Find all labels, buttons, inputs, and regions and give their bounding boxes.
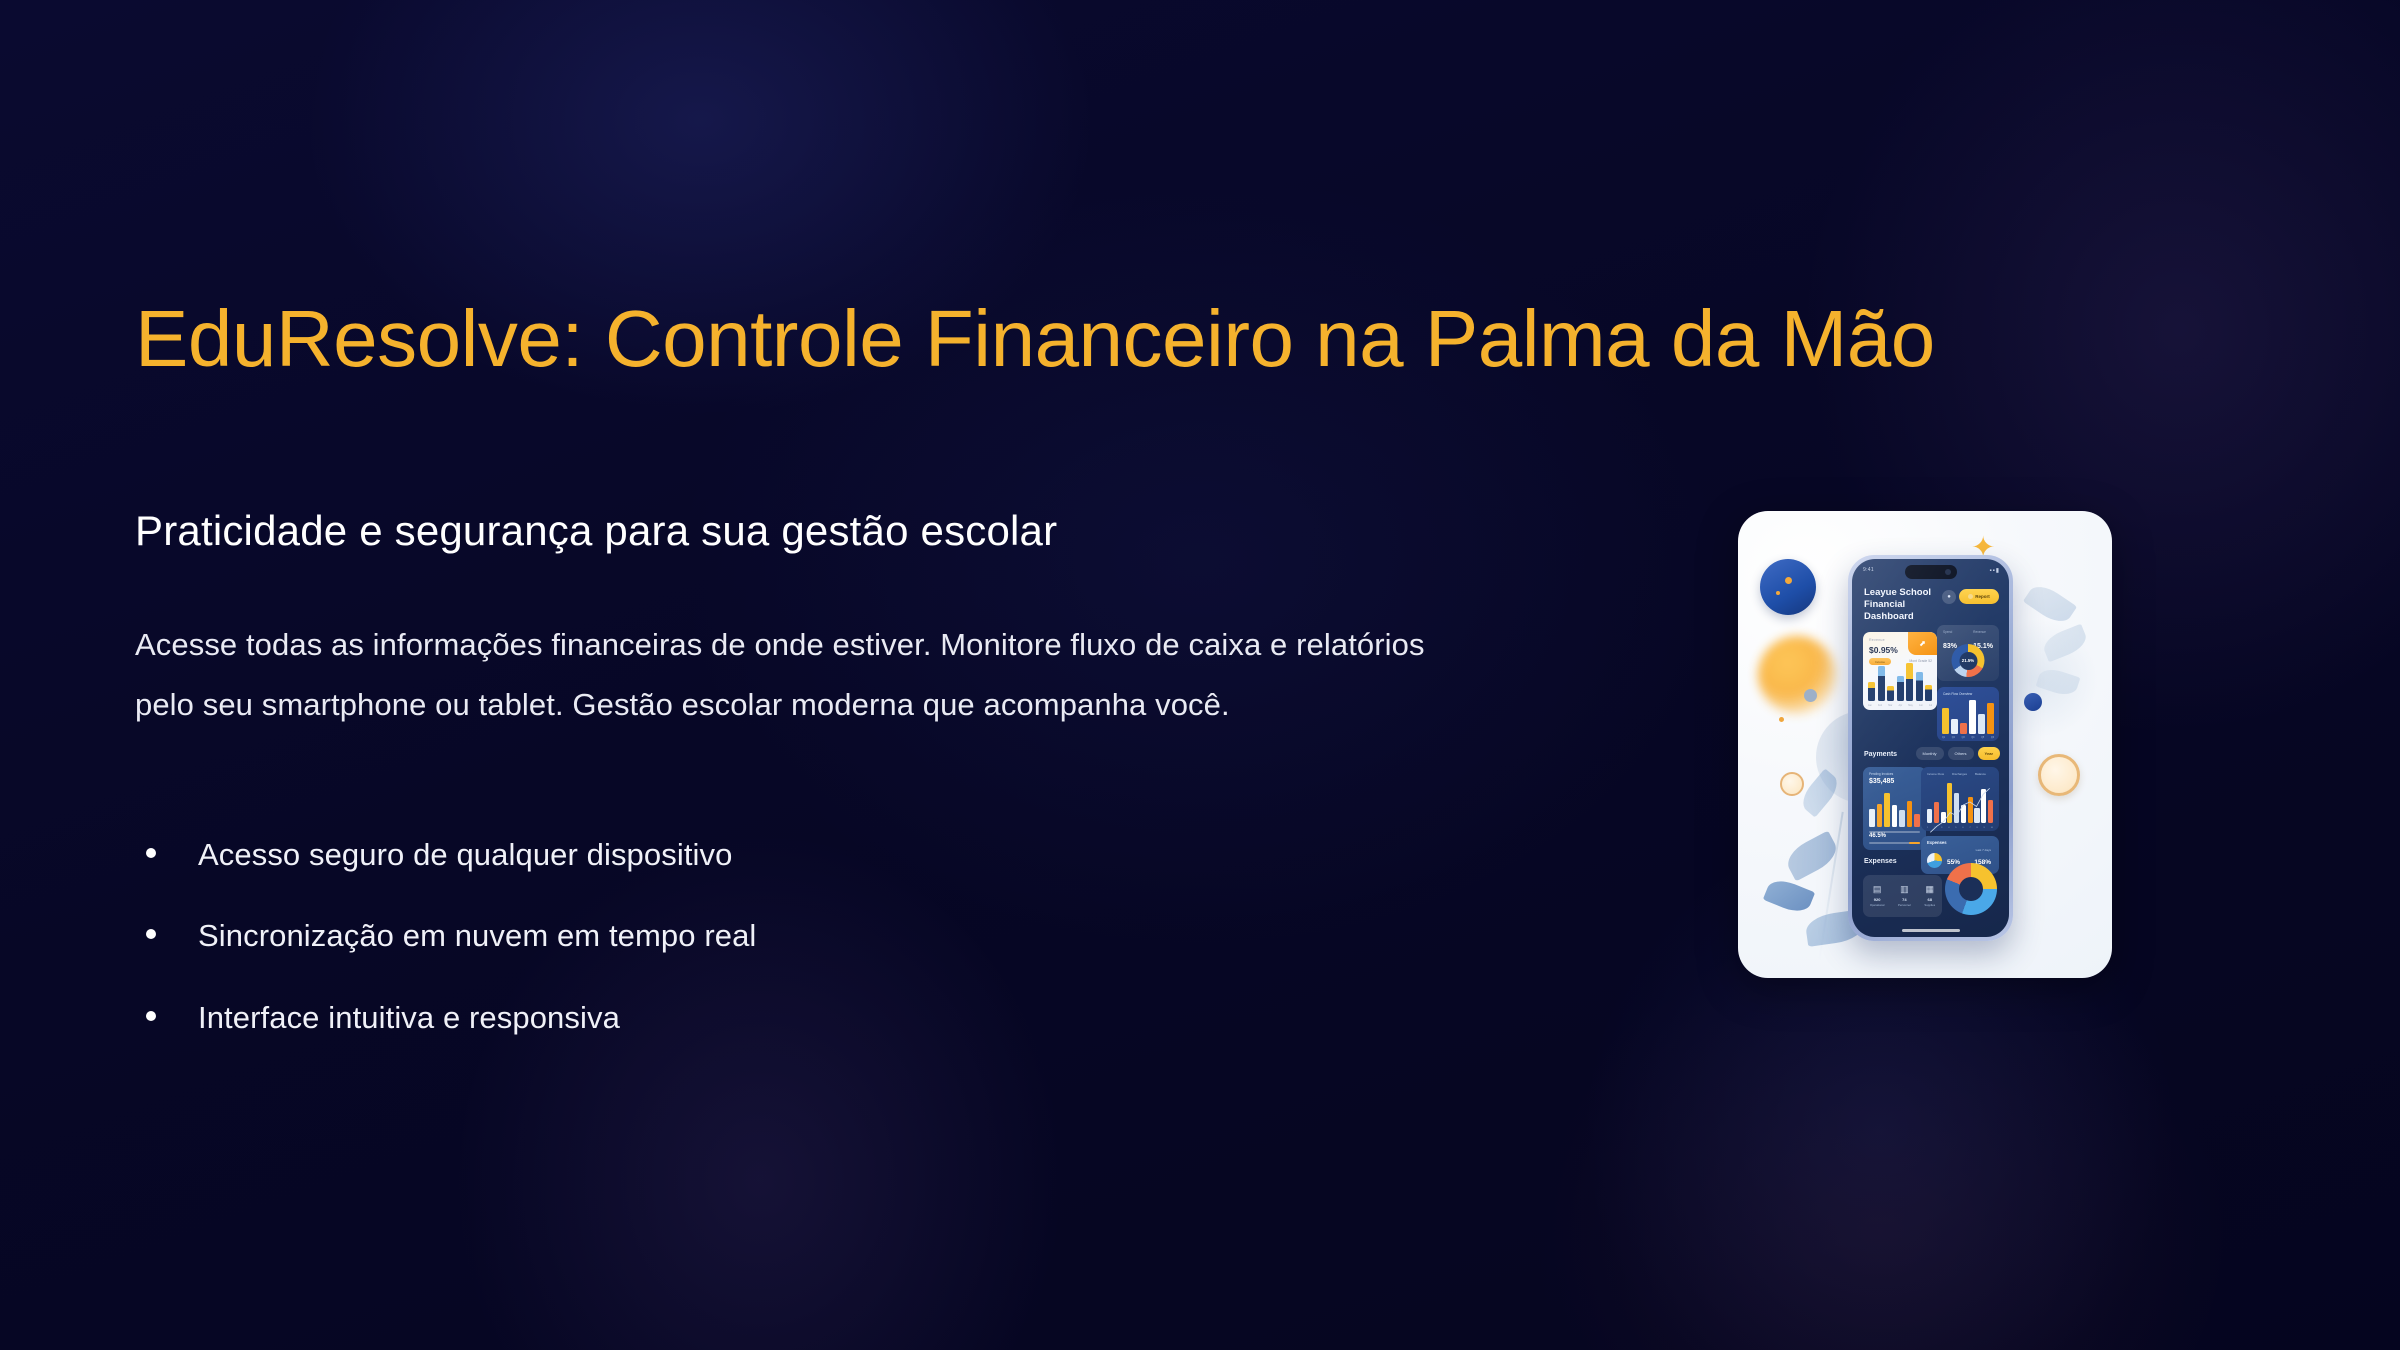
grey-dot-decor: [1804, 689, 1817, 702]
progress-value: 46.5%: [1869, 833, 1886, 839]
expense-tile[interactable]: ▤ 920 Operational: [1870, 885, 1884, 907]
axis-tick: Mar: [1888, 704, 1892, 707]
bar: [1925, 685, 1932, 701]
bar: [1869, 809, 1875, 827]
axis-tick: Q5: [1981, 737, 1984, 739]
bar: [1942, 708, 1949, 734]
axis-tick: 10: [1991, 827, 1993, 829]
chip-monthly[interactable]: Monthly: [1916, 747, 1944, 760]
axis-tick: Q1: [1942, 737, 1945, 739]
chip-others[interactable]: Others: [1948, 747, 1974, 760]
expense-tile[interactable]: ▥ 74 Personnel: [1898, 885, 1911, 907]
orange-blob-decor: [1758, 636, 1836, 714]
axis-tick: Jun: [1919, 704, 1923, 707]
trend-up-icon: ⬈: [1908, 632, 1937, 655]
page-title: EduResolve: Controle Financeiro na Palma…: [135, 295, 2255, 383]
bar: [1960, 723, 1967, 734]
bar: [1907, 801, 1913, 827]
expenses-mini-pie: [1927, 853, 1942, 868]
bullet-dot-icon: [146, 1011, 156, 1021]
cream-ring-small-decor: [1780, 772, 1804, 796]
blue-circle-decor: [1760, 559, 1816, 615]
bar: [1914, 814, 1920, 827]
donut-card[interactable]: Spend 83% Revenue 15.1% 21.5%: [1937, 625, 1999, 681]
illustration-card: ✦ ✦ 9:41 ▪▪▮ Leayue SchoolFinancialDashb…: [1738, 511, 2112, 978]
chip-year[interactable]: Year: [1978, 747, 2000, 760]
bar: [1897, 676, 1904, 701]
combo-chart-card[interactable]: Income Flow Discharges Balance 123456789…: [1921, 767, 1999, 831]
legend-item: Discharges: [1952, 772, 1967, 776]
axis-tick: Feb: [1878, 704, 1882, 707]
combo-axis-labels: 12345678910: [1927, 827, 1993, 829]
axis-tick: Q3: [1962, 737, 1965, 739]
donut-center-value: 21.5%: [1962, 658, 1974, 663]
axis-tick: 7: [1969, 827, 1970, 829]
kpi-label: Revenue: [1869, 638, 1885, 642]
expense-tile[interactable]: ▦ 68 Supplies: [1924, 885, 1935, 907]
axis-tick: 3: [1941, 827, 1942, 829]
bar: [1899, 810, 1905, 827]
status-bar-icons: ▪▪▮: [1989, 567, 2000, 574]
expenses-summary-title: Expenses: [1927, 840, 1947, 845]
phone-screen: 9:41 ▪▪▮ Leayue SchoolFinancialDashboard…: [1852, 559, 2009, 937]
list-item: Sincronização em nuvem em tempo real: [135, 916, 1335, 956]
bar: [1868, 682, 1875, 701]
list-item: Acesso seguro de qualquer dispositivo: [135, 835, 1335, 875]
bar: [1951, 719, 1958, 734]
pay-label: Pending Invoices: [1869, 772, 1893, 776]
cashflow-axis-labels: Q1Q2Q3Q4Q5Q6: [1942, 737, 1994, 739]
orange-dot-decor: [1776, 591, 1780, 595]
bar: [1906, 663, 1913, 701]
bar: [1892, 805, 1898, 827]
metric-label: Revenue: [1973, 630, 1993, 634]
orange-dot-decor: [1779, 717, 1784, 722]
cashflow-card[interactable]: Cash Flow Overview Q1Q2Q3Q4Q5Q6: [1937, 687, 1999, 741]
metric-label: Spend: [1943, 630, 1957, 634]
bar: [1978, 714, 1985, 734]
expenses-donut-chart: [1945, 863, 1997, 915]
combo-plot: [1927, 783, 1993, 823]
dashboard-title: Leayue SchoolFinancialDashboard: [1864, 587, 1931, 623]
leaf-icon: [1763, 875, 1815, 916]
tile-value: 74: [1898, 897, 1911, 902]
list-item: Interface intuitiva e responsiva: [135, 998, 1335, 1038]
kpi-value: $0.95%: [1869, 645, 1898, 655]
building-icon: ▥: [1898, 885, 1911, 894]
axis-tick: Apr: [1898, 704, 1902, 707]
tile-value: 920: [1870, 897, 1884, 902]
combo-legend: Income Flow Discharges Balance: [1927, 772, 1993, 776]
axis-tick: Jul: [1929, 704, 1932, 707]
cashflow-bar-chart: [1942, 700, 1994, 734]
kpi-bar-chart: [1868, 663, 1932, 701]
section-subtitle: Praticidade e segurança para sua gestão …: [135, 505, 1535, 558]
tile-label: Supplies: [1924, 903, 1935, 907]
axis-tick: Q2: [1952, 737, 1955, 739]
camera-icon: [1945, 569, 1951, 575]
slide-root: EduResolve: Controle Financeiro na Palma…: [0, 0, 2400, 1350]
orange-dot-decor: [1785, 577, 1792, 584]
axis-tick: 4: [1948, 827, 1949, 829]
legend-item: Balance: [1975, 772, 1986, 776]
axis-tick: 5: [1955, 827, 1956, 829]
grid-icon: ▦: [1924, 885, 1935, 894]
list-item-label: Acesso seguro de qualquer dispositivo: [198, 837, 732, 872]
payments-heading: Payments: [1864, 751, 1897, 758]
report-button-label: Report: [1975, 594, 1990, 599]
expenses-heading: Expenses: [1864, 858, 1897, 865]
cream-ring-large-decor: [2038, 754, 2080, 796]
feature-list: Acesso seguro de qualquer dispositivo Si…: [135, 835, 1335, 1079]
bar: [1969, 700, 1976, 734]
donut-chart: 21.5%: [1952, 644, 1985, 677]
report-button[interactable]: Report: [1959, 589, 1999, 604]
expenses-tiles: ▤ 920 Operational ▥ 74 Personnel ▦ 68 Su…: [1863, 875, 1942, 917]
axis-tick: Q4: [1971, 737, 1974, 739]
cta-dot-icon: [1968, 594, 1973, 599]
body-paragraph: Acesse todas as informações financeiras …: [135, 615, 1490, 736]
navy-dot-decor: [2024, 693, 2042, 711]
payments-bar-chart: [1869, 793, 1920, 827]
kpi-card[interactable]: ⬈ Revenue $0.95% Income Mont Grade 52 Ja…: [1863, 632, 1937, 710]
phone-mockup: 9:41 ▪▪▮ Leayue SchoolFinancialDashboard…: [1848, 555, 2013, 941]
axis-tick: 2: [1934, 827, 1935, 829]
cashflow-label: Cash Flow Overview: [1943, 692, 1972, 696]
phone-notch: [1905, 565, 1957, 579]
bar: [1916, 672, 1923, 701]
axis-tick: Jan: [1868, 704, 1872, 707]
home-indicator: [1902, 929, 1960, 932]
wallet-icon: ▤: [1870, 885, 1884, 894]
legend-item: Income Flow: [1927, 772, 1944, 776]
user-icon[interactable]: ●: [1942, 590, 1956, 604]
axis-tick: 1: [1927, 827, 1928, 829]
kpi-axis-labels: JanFebMarAprMayJunJul: [1868, 704, 1932, 707]
progress-track: [1869, 842, 1920, 844]
bullet-dot-icon: [146, 848, 156, 858]
tile-label: Operational: [1870, 903, 1884, 907]
content-column: EduResolve: Controle Financeiro na Palma…: [135, 0, 1535, 1350]
bar: [1884, 793, 1890, 827]
pending-invoices-card[interactable]: Pending Invoices $35,485 46.5%: [1863, 767, 1926, 850]
expenses-summary-note: Last 7 days: [1976, 848, 1991, 852]
pay-value: $35,485: [1869, 778, 1894, 785]
axis-tick: 6: [1962, 827, 1963, 829]
status-bar-time: 9:41: [1863, 567, 1874, 573]
bullet-dot-icon: [146, 929, 156, 939]
tile-value: 68: [1924, 897, 1935, 902]
axis-tick: May: [1908, 704, 1913, 707]
bar: [1987, 703, 1994, 734]
tile-label: Personnel: [1898, 903, 1911, 907]
bar: [1878, 666, 1885, 701]
axis-tick: 8: [1976, 827, 1977, 829]
list-item-label: Sincronização em nuvem em tempo real: [198, 918, 756, 953]
axis-tick: 9: [1984, 827, 1985, 829]
list-item-label: Interface intuitiva e responsiva: [198, 1000, 620, 1035]
bar: [1887, 686, 1894, 701]
bar: [1877, 804, 1883, 827]
payments-filter-chips: Monthly Others Year: [1916, 747, 2000, 760]
axis-tick: Q6: [1991, 737, 1994, 739]
